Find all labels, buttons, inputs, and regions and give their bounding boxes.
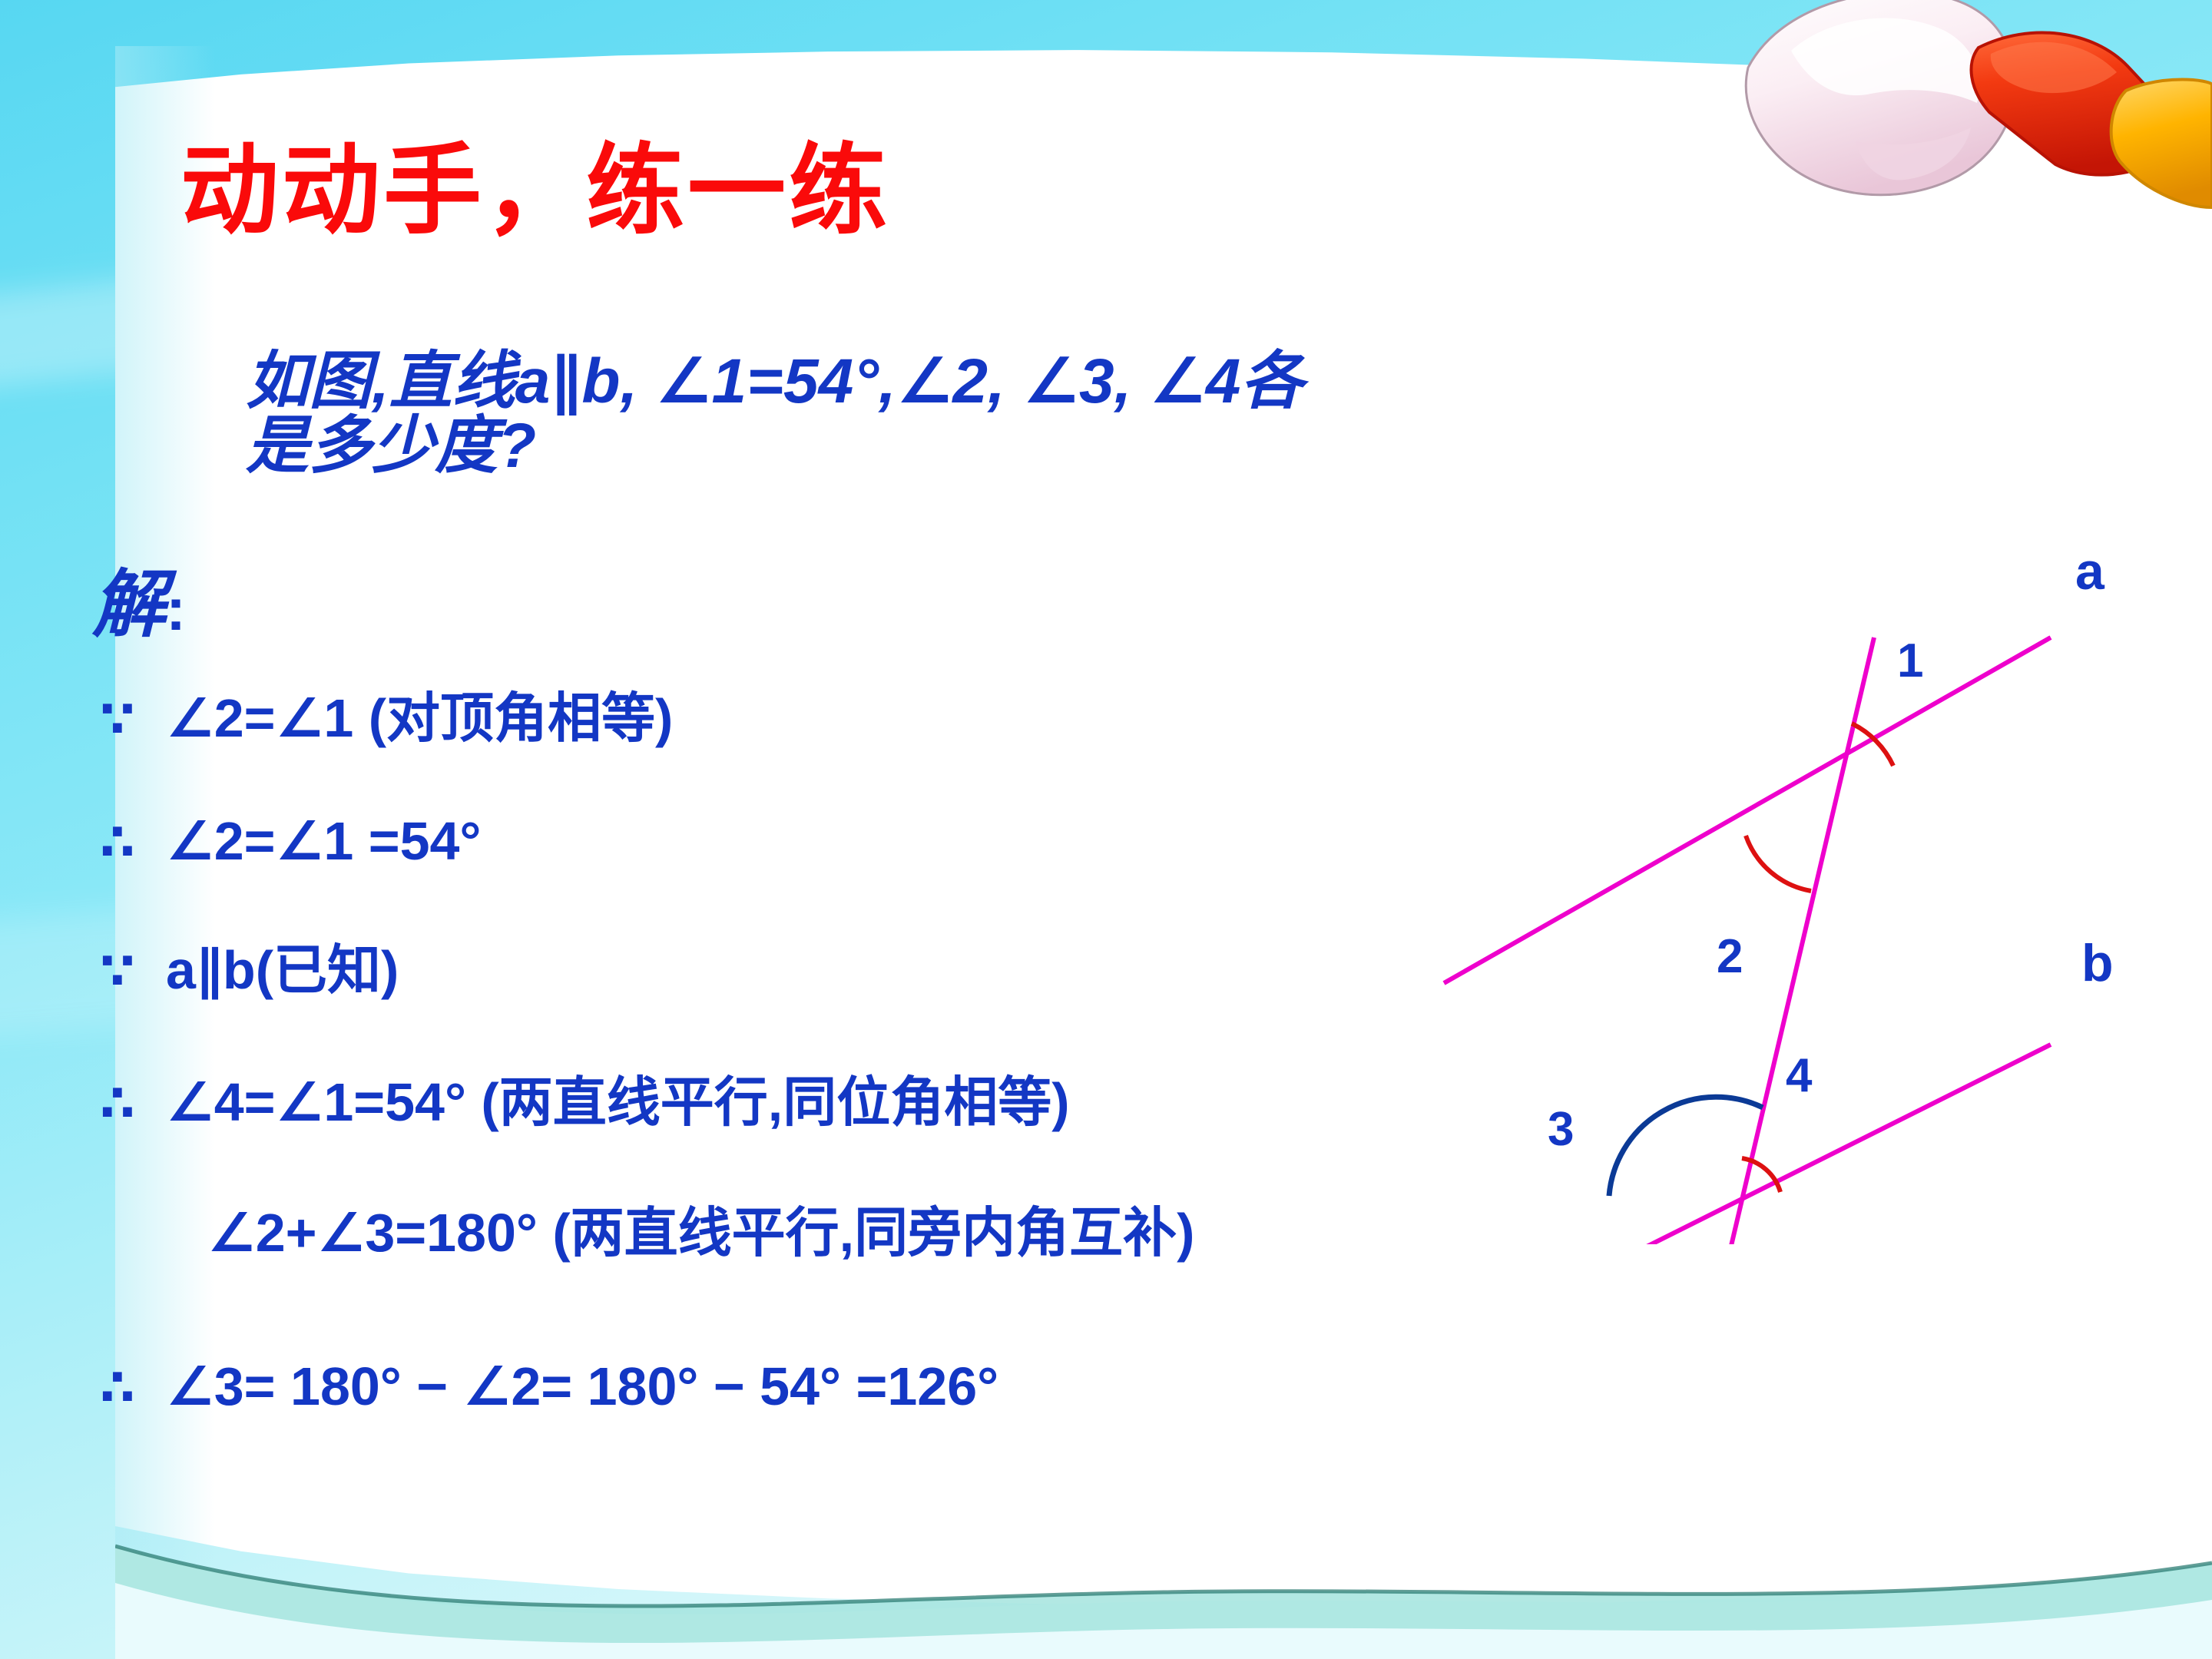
paintbrush-icon [1720,0,2212,253]
problem-line-1: 如图,直线a∥b, ∠1=54°,∠2, ∠3, ∠4各 [246,346,1303,416]
proof-step-text: ∠2+∠3=180° (两直线平行,同旁内角互补) [207,1203,1194,1263]
geometry-figure: a b 1 2 3 4 [1413,522,2212,1244]
proof-step: ∴∠4=∠1=54° (两直线平行,同位角相等) [100,1075,1070,1129]
proof-step: ∴∠2=∠1 =54° [100,814,481,868]
line-a [1444,637,2051,983]
figure-label-angle-3: 3 [1548,1106,1574,1154]
slide-canvas: 动动手，练一练 如图,直线a∥b, ∠1=54°,∠2, ∠3, ∠4各 是多少… [0,0,2212,1659]
proof-step: ∵∠2=∠1 (对顶角相等) [100,691,673,745]
logic-mark-therefore: ∴ [100,1362,166,1412]
angle-2-arc [1746,836,1811,891]
proof-step: ∴∠3= 180° − ∠2= 180° − 54° =126° [100,1359,998,1413]
proof-step-text: ∠2=∠1 =54° [166,811,481,871]
parallel-lines-diagram [1413,522,2212,1244]
proof-step: ∵a∥b(已知) [100,943,399,997]
angle-3-arc [1609,1097,1763,1196]
logic-mark-therefore: ∴ [100,816,166,867]
proof-step-text: ∠3= 180° − ∠2= 180° − 54° =126° [166,1356,998,1416]
figure-label-angle-1: 1 [1897,637,1923,685]
proof-step-text: ∠4=∠1=54° (两直线平行,同位角相等) [166,1072,1070,1132]
problem-statement: 如图,直线a∥b, ∠1=54°,∠2, ∠3, ∠4各 是多少度? [246,349,2089,478]
logic-mark-because: ∵ [100,694,166,744]
solution-label-colon: : [166,575,186,643]
proof-step: ∠2+∠3=180° (两直线平行,同旁内角互补) [207,1206,1194,1260]
logic-mark-because: ∵ [100,945,166,996]
proof-step-text: ∠2=∠1 (对顶角相等) [166,688,673,748]
solution-label: 解: [92,568,186,642]
figure-label-line-b: b [2081,937,2114,989]
problem-line-2: 是多少度? [246,411,536,481]
solution-label-text: 解 [92,564,166,646]
page-title: 动动手，练一练 [180,142,890,240]
figure-label-angle-4: 4 [1786,1052,1812,1100]
figure-label-angle-2: 2 [1717,933,1743,981]
proof-step-text: a∥b(已知) [166,940,399,1000]
figure-label-line-a: a [2075,545,2104,598]
logic-mark-therefore: ∴ [100,1078,166,1128]
